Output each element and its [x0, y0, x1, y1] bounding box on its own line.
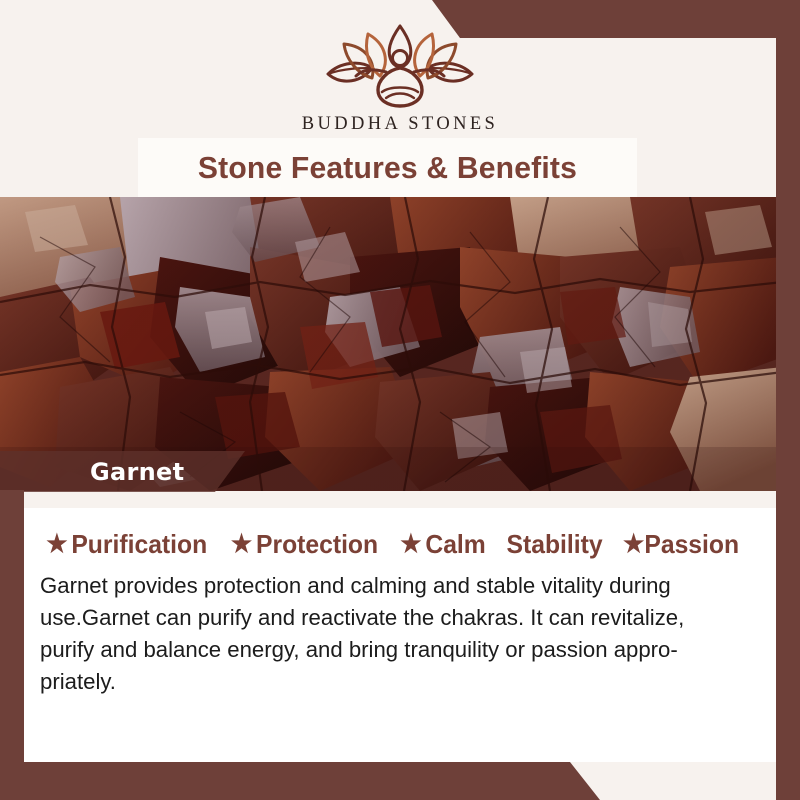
- description-line: purify and balance energy, and bring tra…: [40, 634, 749, 666]
- description-line: use.Garnet can purify and reactivate the…: [40, 602, 749, 634]
- description-text: Garnet provides protection and calming a…: [40, 570, 749, 698]
- keyword-passion: ★ Passion: [623, 529, 739, 560]
- description-line: Garnet provides protection and calming a…: [40, 570, 749, 602]
- keyword-label: Protection: [256, 529, 378, 560]
- garnet-crystal-cluster-photo: [0, 197, 783, 491]
- description-line: priately.: [40, 666, 749, 698]
- star-icon: ★: [401, 532, 422, 557]
- keyword-calm: ★ Calm: [401, 529, 487, 560]
- keyword-purification: ★ Purification: [46, 529, 207, 560]
- brand-name: BUDDHA STONES: [302, 114, 499, 135]
- keyword-stability: Stability: [507, 529, 603, 560]
- keyword-label: Passion: [644, 529, 739, 560]
- keyword-protection: ★ Protection: [231, 529, 378, 560]
- title-panel: Stone Features & Benefits: [138, 138, 637, 197]
- star-icon: ★: [623, 532, 644, 557]
- benefits-card: ★ Purification ★ Protection ★ Calm Stabi…: [24, 508, 776, 762]
- page-title: Stone Features & Benefits: [198, 150, 577, 186]
- frame-left-band: [0, 490, 24, 800]
- keyword-label: Calm: [426, 529, 486, 560]
- poster-root: BUDDHA STONES Stone Features & Benefits: [0, 0, 800, 800]
- frame-right-band: [776, 0, 800, 800]
- stone-name-label: Garnet: [90, 458, 184, 486]
- keyword-list: ★ Purification ★ Protection ★ Calm Stabi…: [24, 508, 776, 560]
- frame-bottom-band: [0, 762, 800, 800]
- keyword-label: Purification: [71, 529, 207, 560]
- star-icon: ★: [231, 532, 252, 557]
- star-icon: ★: [46, 532, 67, 557]
- keyword-label: Stability: [507, 529, 603, 560]
- stone-name-ribbon: Garnet: [0, 451, 245, 492]
